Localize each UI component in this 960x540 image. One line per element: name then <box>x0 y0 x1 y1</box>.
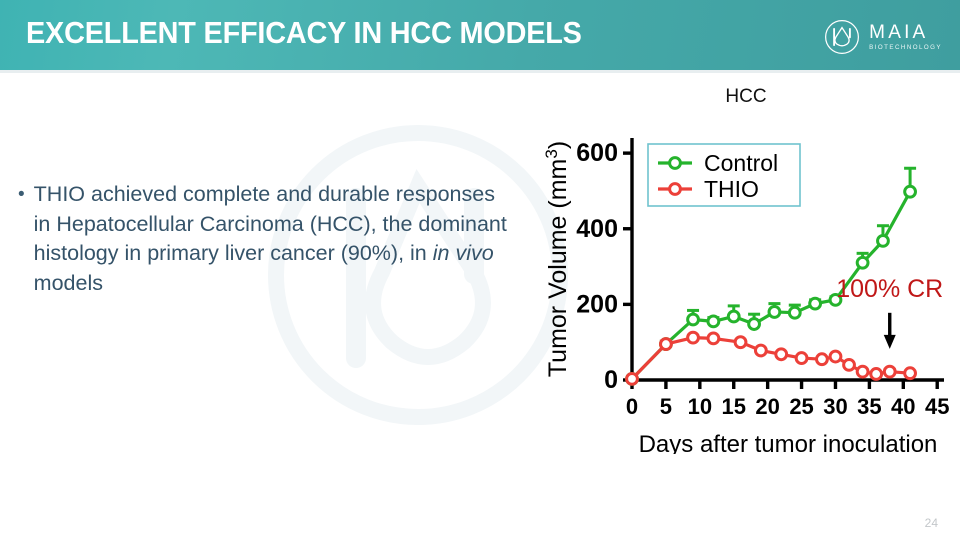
y-axis-label: Tumor Volume (mm3) <box>542 141 572 377</box>
x-tick-label: 0 <box>626 394 638 419</box>
data-point <box>878 235 889 246</box>
data-point <box>728 311 739 322</box>
legend-swatch-marker <box>670 158 681 169</box>
data-point <box>905 186 916 197</box>
logo-text-block: MAIA BIOTECHNOLOGY <box>869 23 942 51</box>
x-tick-label: 10 <box>688 394 712 419</box>
data-point <box>708 316 719 327</box>
slide: EXCELLENT EFFICACY IN HCC MODELS MAIA BI… <box>0 0 960 540</box>
x-tick-label: 45 <box>925 394 949 419</box>
x-axis-label: Days after tumor inoculation <box>639 431 938 454</box>
x-tick-label: 15 <box>721 394 745 419</box>
down-arrow-icon <box>884 313 896 349</box>
data-point <box>857 257 868 268</box>
bullet-item-text: THIO achieved complete and durable respo… <box>34 180 508 298</box>
data-point <box>708 333 719 344</box>
series-thio <box>627 332 916 384</box>
y-tick-label: 200 <box>576 290 618 318</box>
x-tick-label: 35 <box>857 394 881 419</box>
chart-title: HCC <box>536 86 956 108</box>
tumor-volume-chart: HCC 0200400600051015202530354045Tumor Vo… <box>536 86 956 454</box>
data-point <box>871 369 882 380</box>
data-point <box>830 351 841 362</box>
data-point <box>857 366 868 377</box>
data-point <box>905 368 916 379</box>
logo-tagline: BIOTECHNOLOGY <box>869 45 942 51</box>
x-tick-label: 40 <box>891 394 915 419</box>
data-point <box>789 307 800 318</box>
data-point <box>817 354 828 365</box>
data-point <box>755 345 766 356</box>
y-tick-label: 400 <box>576 215 618 243</box>
data-point <box>688 332 699 343</box>
maia-circle-monogram-icon <box>824 19 860 55</box>
bullet-marker: • <box>18 180 25 298</box>
bullet-text-italic: in vivo <box>433 241 494 265</box>
page-number: 24 <box>925 516 938 530</box>
chart-annotation: 100% CR <box>836 275 943 303</box>
data-point <box>688 314 699 325</box>
data-point <box>749 319 760 330</box>
slide-header: EXCELLENT EFFICACY IN HCC MODELS MAIA BI… <box>0 0 960 70</box>
data-point <box>661 339 672 350</box>
data-point <box>776 349 787 360</box>
data-point <box>796 353 807 364</box>
data-point <box>769 307 780 318</box>
legend-label: Control <box>704 150 778 176</box>
data-point <box>735 337 746 348</box>
bullet-list: • THIO achieved complete and durable res… <box>18 180 508 298</box>
y-axis-ticks: 0200400600 <box>576 139 632 394</box>
brand-logo: MAIA BIOTECHNOLOGY <box>824 18 942 56</box>
x-tick-label: 25 <box>789 394 813 419</box>
header-underline <box>0 70 960 73</box>
x-tick-label: 5 <box>660 394 672 419</box>
x-tick-label: 30 <box>823 394 847 419</box>
bullet-text-segment-2: models <box>34 271 103 295</box>
chart-plot-svg: 0200400600051015202530354045Tumor Volume… <box>536 108 956 454</box>
data-point <box>844 359 855 370</box>
legend-swatch-marker <box>670 184 681 195</box>
data-point <box>884 366 895 377</box>
legend-label: THIO <box>704 176 759 202</box>
chart-legend: ControlTHIO <box>648 144 800 206</box>
logo-wordmark: MAIA <box>869 23 942 42</box>
data-point <box>810 298 821 309</box>
y-tick-label: 600 <box>576 139 618 167</box>
x-axis-ticks: 051015202530354045 <box>626 380 950 419</box>
y-tick-label: 0 <box>604 366 618 394</box>
x-tick-label: 20 <box>755 394 779 419</box>
page-title: EXCELLENT EFFICACY IN HCC MODELS <box>26 15 582 51</box>
data-point <box>627 373 638 384</box>
